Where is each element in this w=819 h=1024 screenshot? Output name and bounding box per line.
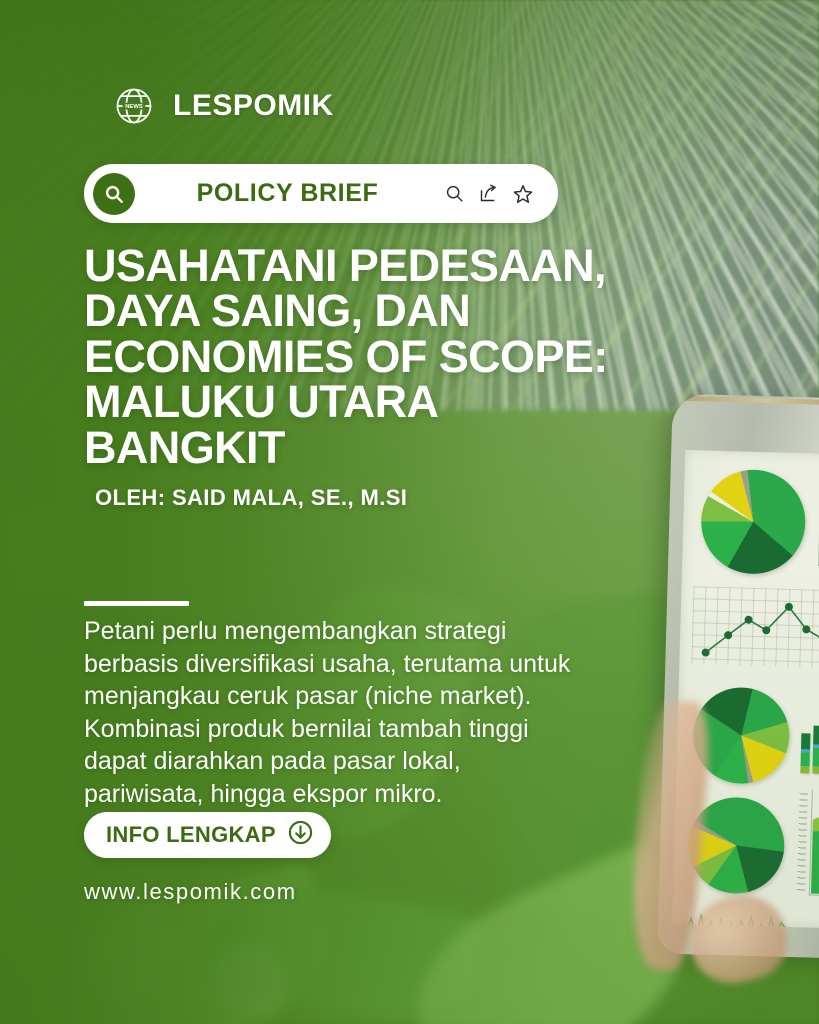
website-url: www.lespomik.com	[84, 879, 297, 905]
policy-brief-pill[interactable]: POLICY BRIEF	[84, 164, 558, 223]
arrow-down-circle-icon	[287, 819, 314, 851]
title-line-2: DAYA SAING, DAN	[84, 288, 684, 333]
title-line-1: USAHATANI PEDESAAN,	[84, 243, 684, 288]
search-icon[interactable]	[444, 183, 465, 204]
divider-rule	[84, 601, 189, 606]
search-icon[interactable]	[93, 173, 135, 215]
title-line-3: ECONOMIES OF SCOPE:	[84, 334, 684, 379]
info-lengkap-button[interactable]: INFO LENGKAP	[84, 812, 331, 858]
info-lengkap-label: INFO LENGKAP	[106, 822, 276, 848]
brand-lockup: NEWS LESPOMIK	[112, 84, 334, 128]
page-title: USAHATANI PEDESAAN, DAYA SAING, DAN ECON…	[84, 243, 684, 470]
summary-paragraph: Petani perlu mengembangkan strategi berb…	[84, 615, 644, 810]
body-line-1: Petani perlu mengembangkan strategi	[84, 615, 644, 648]
poster-content: NEWS LESPOMIK POLICY BRIEF	[0, 0, 819, 1024]
title-line-4: MALUKU UTARA	[84, 379, 684, 424]
title-line-5: BANGKIT	[84, 425, 684, 470]
body-line-6: pariwisata, hingga ekspor mikro.	[84, 778, 644, 811]
pill-action-icons	[444, 183, 534, 205]
body-line-3: menjangkau ceruk pasar (niche market).	[84, 680, 644, 713]
body-line-4: Kombinasi produk bernilai tambah tinggi	[84, 713, 644, 746]
share-icon[interactable]	[478, 183, 499, 204]
brand-name: LESPOMIK	[173, 89, 334, 123]
globe-news-icon: NEWS	[112, 84, 156, 128]
globe-inner-label: NEWS	[125, 104, 143, 110]
policy-brief-poster: NEWS LESPOMIK POLICY BRIEF	[0, 0, 819, 1024]
policy-brief-label: POLICY BRIEF	[131, 179, 444, 208]
star-icon[interactable]	[512, 183, 534, 205]
author-byline: OLEH: SAID MALA, SE., M.SI	[95, 485, 407, 511]
body-line-2: berbasis diversifikasi usaha, terutama u…	[84, 648, 644, 681]
body-line-5: dapat diarahkan pada pasar lokal,	[84, 745, 644, 778]
